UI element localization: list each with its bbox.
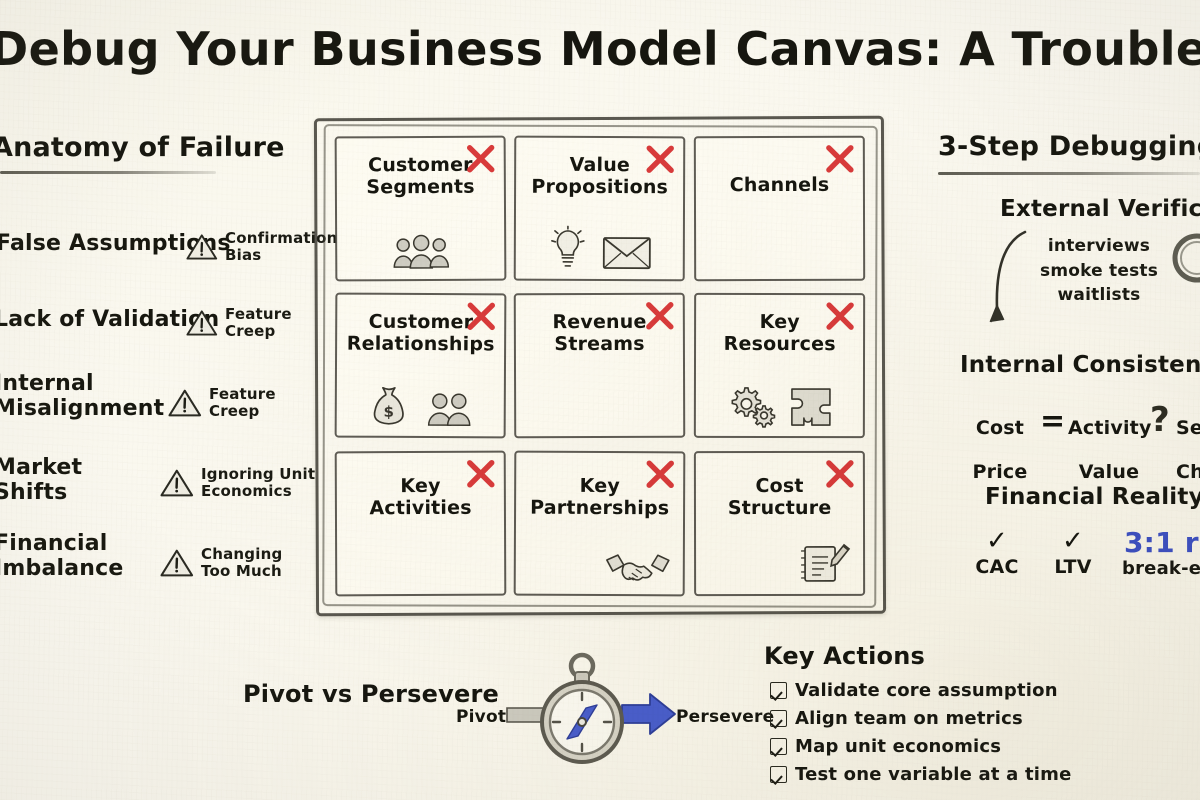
checkbox-checked-icon[interactable]	[770, 710, 787, 727]
pivot-arrow-label: Pivot	[456, 707, 506, 727]
failure-label: Market Shifts	[0, 456, 82, 505]
red-x-icon	[464, 300, 498, 334]
envelope-icon	[601, 233, 653, 271]
fraction-numerator: Cost	[965, 418, 1035, 440]
key-actions-heading: Key Actions	[764, 642, 925, 670]
infographic-root: Debug Your Business Model Canvas: A Trou…	[0, 0, 1200, 800]
lightbulb-icon	[547, 225, 589, 271]
metric-label: CAC	[966, 556, 1028, 578]
failure-label: Financial Imbalance	[0, 532, 124, 581]
red-x-icon	[643, 299, 677, 333]
left-heading-underline	[0, 171, 216, 174]
warning-item-4: Changing Too Much	[160, 546, 282, 580]
red-x-icon	[464, 456, 498, 490]
canvas-cell-revenue-streams[interactable]: Revenue Streams	[514, 293, 686, 439]
gears-icon	[725, 385, 777, 429]
warning-item-3: Ignoring Unit Economics	[160, 466, 315, 500]
warning-triangle-icon	[160, 468, 194, 498]
warning-triangle-icon	[160, 548, 194, 578]
cell-icons	[696, 538, 863, 586]
checkbox-checked-icon[interactable]	[770, 738, 787, 755]
warning-label: Feature Creep	[209, 386, 276, 420]
left-section-heading: Anatomy of Failure	[0, 132, 285, 163]
step-1-methods: interviews smoke tests waitlists	[1040, 234, 1158, 308]
warning-label: Changing Too Much	[201, 546, 282, 580]
red-x-icon	[464, 142, 498, 176]
fraction-denominator: Value	[1068, 462, 1150, 484]
right-section-heading: 3-Step Debugging Process	[938, 131, 1200, 162]
money-bag-icon: $	[368, 384, 408, 428]
action-label: Align team on metrics	[795, 708, 1023, 729]
warning-item-1: Feature Creep	[186, 306, 292, 340]
ratio-value: 3:1 ra	[1124, 526, 1200, 559]
check-icon: ✓	[966, 528, 1028, 554]
action-label: Map unit economics	[795, 736, 1001, 757]
canvas-cell-value-propositions[interactable]: Value Propositions	[514, 136, 686, 282]
checkbox-checked-icon[interactable]	[770, 682, 787, 699]
warning-triangle-icon	[186, 309, 218, 337]
persevere-arrow-label: Persevere	[676, 707, 774, 727]
fraction-numerator: Activity	[1068, 418, 1150, 440]
failure-item-2: Internal Misalignment	[0, 372, 164, 421]
magnifier-icon	[1165, 228, 1200, 298]
failure-label: Internal Misalignment	[0, 372, 164, 421]
warning-label: Feature Creep	[225, 306, 292, 340]
canvas-grid: Customer Segments	[335, 136, 865, 596]
metric-label: LTV	[1042, 556, 1104, 578]
step-3-title: Financial Reality Check	[985, 484, 1200, 510]
step-2-title: Internal Consistency Check	[960, 352, 1200, 378]
key-action-item-0[interactable]: Validate core assumption	[770, 680, 1058, 701]
warning-triangle-icon	[186, 233, 218, 261]
equals-sign: =	[1040, 404, 1065, 439]
cell-label: Channels	[696, 174, 863, 196]
curved-down-arrow-icon	[985, 228, 1031, 338]
canvas-cell-key-activities[interactable]: Key Activities	[335, 450, 507, 596]
checkbox-checked-icon[interactable]	[770, 766, 787, 783]
pivot-section-title: Pivot vs Persevere	[243, 680, 499, 708]
red-x-icon	[823, 299, 857, 333]
notepad-pencil-icon	[799, 538, 851, 586]
warning-label: Ignoring Unit Economics	[201, 466, 315, 500]
key-action-item-1[interactable]: Align team on metrics	[770, 708, 1023, 729]
canvas-cell-channels[interactable]: Channels	[693, 136, 865, 282]
cell-icons	[516, 548, 683, 587]
red-x-icon	[644, 142, 678, 176]
cell-icons	[337, 231, 505, 272]
compass-icon	[528, 648, 636, 772]
svg-text:$: $	[383, 403, 394, 421]
right-heading-underline	[938, 172, 1200, 175]
fraction-denominator: Price	[965, 462, 1035, 484]
people-group-icon	[390, 231, 452, 271]
cell-icons	[516, 225, 684, 272]
warning-triangle-icon	[168, 388, 202, 418]
failure-item-4: Financial Imbalance	[0, 532, 124, 581]
action-label: Test one variable at a time	[795, 764, 1072, 785]
question-mark: ?	[1150, 400, 1170, 440]
failure-item-3: Market Shifts	[0, 456, 82, 505]
key-action-item-3[interactable]: Test one variable at a time	[770, 764, 1072, 785]
key-action-item-2[interactable]: Map unit economics	[770, 736, 1001, 757]
canvas-cell-key-resources[interactable]: Key Resources	[694, 293, 866, 439]
two-people-icon	[424, 389, 472, 429]
action-label: Validate core assumption	[795, 680, 1058, 701]
breakeven-label: break-e	[1122, 558, 1200, 579]
red-x-icon	[823, 142, 857, 176]
handshake-icon	[605, 548, 671, 586]
canvas-cell-customer-segments[interactable]: Customer Segments	[335, 136, 507, 282]
check-icon: ✓	[1042, 528, 1104, 554]
canvas-cell-cost-structure[interactable]: Cost Structure	[694, 451, 866, 597]
canvas-cell-key-partnerships[interactable]: Key Partnerships	[514, 450, 686, 596]
canvas-cell-customer-relationships[interactable]: Customer Relationships $	[335, 293, 507, 439]
business-model-canvas: Customer Segments	[315, 117, 885, 615]
fraction-denominator: Ch	[1176, 462, 1200, 484]
fraction-numerator: Se	[1176, 418, 1200, 440]
step-1-title: External Verification	[1000, 196, 1200, 222]
red-x-icon	[823, 457, 857, 491]
metric-ltv: ✓ LTV	[1042, 528, 1104, 578]
puzzle-piece-icon	[787, 387, 833, 429]
metric-cac: ✓ CAC	[966, 528, 1028, 578]
cell-icons: $	[337, 384, 505, 429]
red-x-icon	[644, 457, 678, 491]
warning-item-2: Feature Creep	[168, 386, 276, 420]
page-title: Debug Your Business Model Canvas: A Trou…	[0, 26, 1200, 72]
cell-icons	[696, 384, 863, 428]
